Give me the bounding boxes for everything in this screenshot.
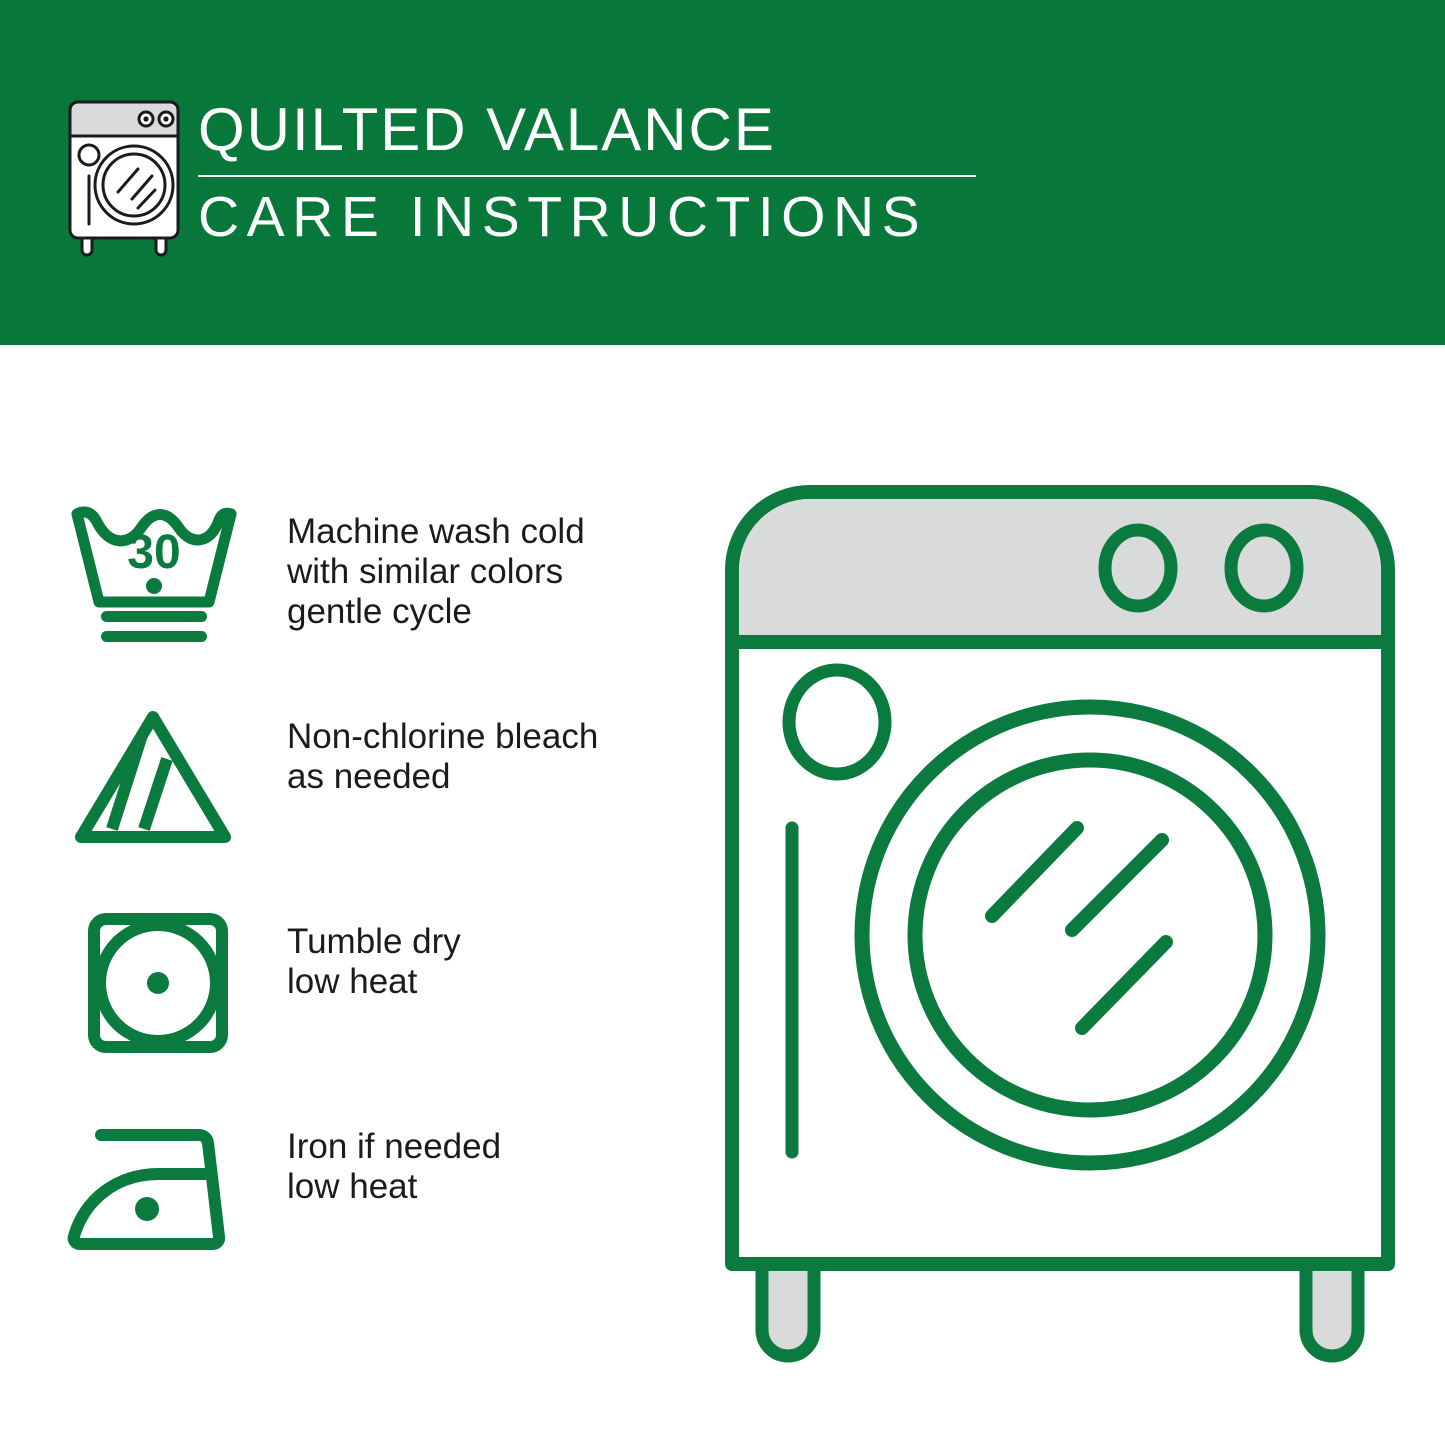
care-label-bleach: Non-chlorine bleach as needed bbox=[245, 695, 598, 797]
leg-right bbox=[1306, 1260, 1358, 1356]
leg-left bbox=[762, 1260, 814, 1356]
header-title-block: QUILTED VALANCE CARE INSTRUCTIONS bbox=[198, 95, 988, 251]
washing-machine-logo-icon bbox=[62, 98, 186, 258]
care-row-bleach: Non-chlorine bleach as needed bbox=[60, 695, 680, 900]
care-label-machine-wash: Machine wash cold with similar colors ge… bbox=[245, 490, 585, 632]
iron-low-heat-icon bbox=[60, 1105, 245, 1270]
page-subtitle: CARE INSTRUCTIONS bbox=[198, 183, 988, 251]
front-load-washing-machine-illustration bbox=[700, 460, 1420, 1380]
care-label-line: low heat bbox=[287, 1167, 501, 1207]
care-label-line: gentle cycle bbox=[287, 592, 585, 632]
care-row-tumble-dry: Tumble dry low heat bbox=[60, 900, 680, 1105]
non-chlorine-bleach-icon bbox=[60, 695, 245, 860]
care-row-machine-wash: 30 Machine wash cold with similar colors… bbox=[60, 490, 680, 695]
header-band: QUILTED VALANCE CARE INSTRUCTIONS bbox=[0, 0, 1445, 345]
tumble-dry-low-icon bbox=[60, 900, 245, 1065]
care-label-line: with similar colors bbox=[287, 552, 585, 592]
wash-temperature-label: 30 bbox=[127, 526, 180, 579]
care-label-line: Machine wash cold bbox=[287, 512, 585, 552]
control-panel bbox=[739, 499, 1381, 642]
care-label-line: as needed bbox=[287, 757, 598, 797]
care-row-iron: Iron if needed low heat bbox=[60, 1105, 680, 1310]
care-instructions-page: QUILTED VALANCE CARE INSTRUCTIONS 30 bbox=[0, 0, 1445, 1445]
care-label-iron: Iron if needed low heat bbox=[245, 1105, 501, 1207]
care-instruction-list: 30 Machine wash cold with similar colors… bbox=[60, 490, 680, 1310]
care-label-line: Tumble dry bbox=[287, 922, 461, 962]
care-label-line: low heat bbox=[287, 962, 461, 1002]
machine-wash-30-gentle-icon: 30 bbox=[60, 490, 245, 655]
care-label-line: Iron if needed bbox=[287, 1127, 501, 1167]
care-label-tumble-dry: Tumble dry low heat bbox=[245, 900, 461, 1002]
title-divider bbox=[198, 175, 976, 177]
care-label-line: Non-chlorine bleach bbox=[287, 717, 598, 757]
page-title: QUILTED VALANCE bbox=[198, 95, 988, 165]
